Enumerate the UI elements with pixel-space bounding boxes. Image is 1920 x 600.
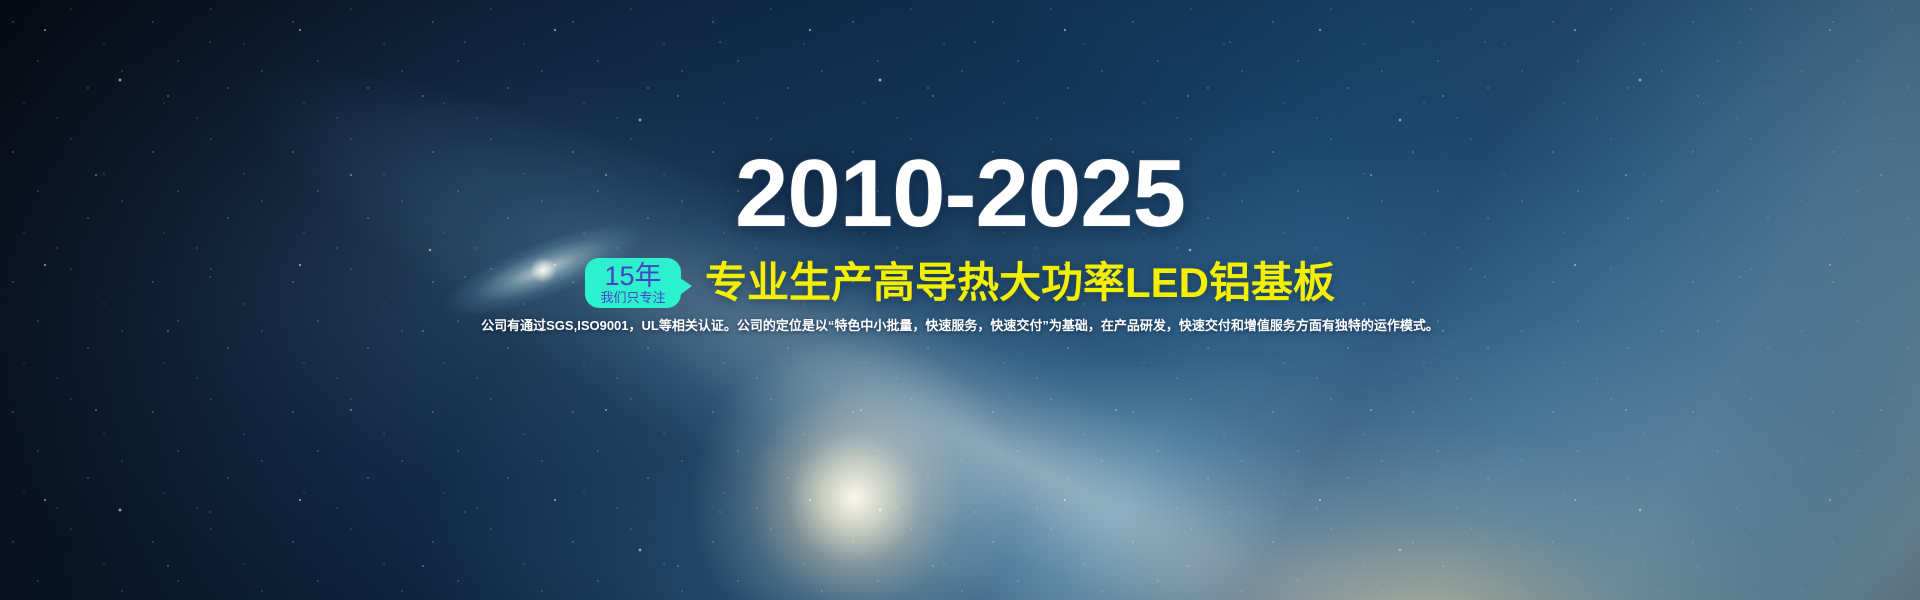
banner-content: 2010-2025 15年 我们只专注 专业生产高导热大功率LED铝基板 公司有… [0, 0, 1920, 600]
anniversary-badge: 15年 我们只专注 [585, 258, 681, 308]
hero-banner: 2010-2025 15年 我们只专注 专业生产高导热大功率LED铝基板 公司有… [0, 0, 1920, 600]
badge-focus-caption: 我们只专注 [600, 291, 665, 304]
banner-subtitle-row: 15年 我们只专注 专业生产高导热大功率LED铝基板 [0, 255, 1920, 311]
banner-subtitle-text: 专业生产高导热大功率LED铝基板 [705, 262, 1335, 304]
banner-description-text: 公司有通过SGS,ISO9001，UL等相关认证。公司的定位是以“特色中小批量，… [0, 317, 1920, 335]
banner-headline-years: 2010-2025 [0, 146, 1920, 242]
badge-years-value: 15年 [604, 263, 661, 290]
